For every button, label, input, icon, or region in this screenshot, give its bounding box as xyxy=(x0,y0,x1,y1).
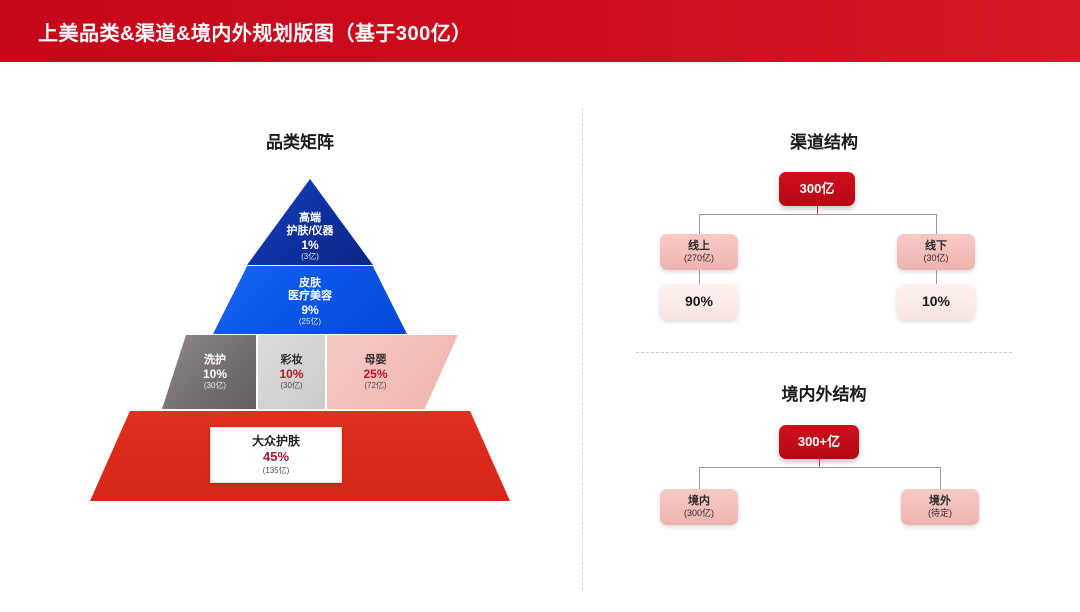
channel-tree: 300亿 线上 (270亿) 线下 (30亿) 90% 10% xyxy=(636,165,1012,330)
channel-offline-sub: (30亿) xyxy=(923,253,948,264)
channel-root-node[interactable]: 300亿 xyxy=(779,172,855,206)
pyramid-block-maternal-baby[interactable]: 母婴 25% (72亿) xyxy=(327,335,458,409)
region-node-domestic[interactable]: 境内 (300亿) xyxy=(660,489,738,525)
channel-root-stem xyxy=(817,206,818,214)
pyramid-section-title: 品类矩阵 xyxy=(130,128,470,153)
pyramid-block-makeup[interactable]: 彩妆 10% (30亿) xyxy=(258,335,325,409)
channel-offline-stem xyxy=(936,270,937,284)
pyramid-tier-medical-aesthetics[interactable]: 皮肤 医疗美容 9% (25亿) xyxy=(213,266,407,334)
slide-canvas: 上美品类&渠道&境内外规划版图（基于300亿） 品类矩阵 高端 护肤/仪器 1%… xyxy=(0,0,1080,612)
mass-skincare-amount: (135亿) xyxy=(263,466,290,476)
region-root-stem xyxy=(819,459,820,467)
pyramid-tier-premium-skincare[interactable]: 高端 护肤/仪器 1% (3亿) xyxy=(247,179,373,265)
makeup-shape xyxy=(258,335,325,409)
tier2-shape xyxy=(213,266,407,334)
mass-skincare-pct: 45% xyxy=(263,449,289,465)
vertical-divider xyxy=(582,108,583,590)
washcare-shape xyxy=(162,335,256,409)
region-right-drop xyxy=(940,467,941,489)
channel-node-online[interactable]: 线上 (270亿) xyxy=(660,234,738,270)
channel-share-online[interactable]: 90% xyxy=(660,284,738,320)
channel-online-stem xyxy=(699,270,700,284)
channel-offline-title: 线下 xyxy=(925,240,947,253)
region-root-node[interactable]: 300+亿 xyxy=(779,425,859,459)
region-left-drop xyxy=(699,467,700,489)
maternal-baby-shape xyxy=(327,335,458,409)
region-domestic-title: 境内 xyxy=(688,495,710,508)
region-node-overseas[interactable]: 境外 (待定) xyxy=(901,489,979,525)
region-section-title: 境内外结构 xyxy=(636,380,1012,405)
horizontal-divider xyxy=(636,352,1012,353)
channel-right-drop xyxy=(936,214,937,234)
region-horizontal-connector xyxy=(699,467,940,468)
channel-online-title: 线上 xyxy=(688,240,710,253)
channel-section-title: 渠道结构 xyxy=(636,128,1012,153)
channel-horizontal-connector xyxy=(699,214,936,215)
mass-skincare-callout[interactable]: 大众护肤 45% (135亿) xyxy=(210,427,342,483)
channel-node-offline[interactable]: 线下 (30亿) xyxy=(897,234,975,270)
channel-online-sub: (270亿) xyxy=(684,253,714,264)
tier1-shape xyxy=(247,179,373,265)
pyramid-tier-middle-row: 洗护 10% (30亿) 彩妆 10% (30亿) 母婴 25% (72亿) xyxy=(162,335,458,409)
channel-share-offline[interactable]: 10% xyxy=(897,284,975,320)
mass-skincare-name: 大众护肤 xyxy=(252,434,300,449)
category-pyramid: 高端 护肤/仪器 1% (3亿) 皮肤 医疗美容 9% (25亿) 洗护 10% xyxy=(90,175,510,510)
pyramid-block-washcare[interactable]: 洗护 10% (30亿) xyxy=(162,335,256,409)
channel-left-drop xyxy=(699,214,700,234)
region-tree: 300+亿 境内 (300亿) 境外 (待定) xyxy=(636,418,1012,528)
region-overseas-sub: (待定) xyxy=(928,508,952,519)
region-domestic-sub: (300亿) xyxy=(684,508,714,519)
region-overseas-title: 境外 xyxy=(929,495,951,508)
page-title: 上美品类&渠道&境内外规划版图（基于300亿） xyxy=(38,0,472,62)
